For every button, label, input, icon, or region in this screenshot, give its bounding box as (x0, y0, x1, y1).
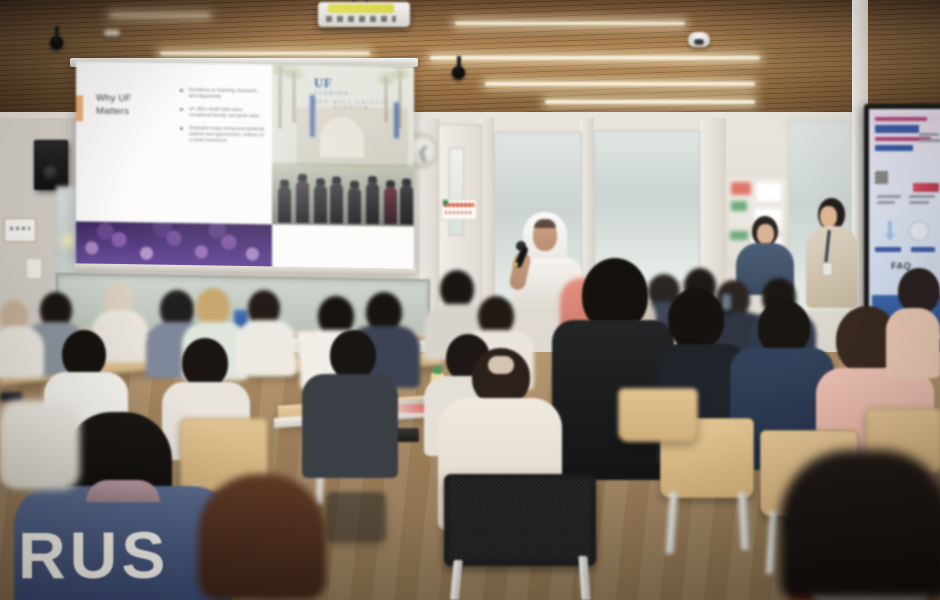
graduate-figure (400, 185, 413, 224)
signage-headline (875, 117, 927, 121)
audience-head-foreground (198, 474, 326, 600)
shirt-text: RUS (18, 520, 188, 590)
signage-note (877, 195, 901, 198)
qr-code-icon (875, 171, 888, 184)
slide-bullet-list: Excellence in Teaching, Research, and Op… (180, 87, 266, 151)
signage-subheadline (875, 145, 913, 151)
slide-accent-bar (76, 95, 83, 121)
audience-head-foreground (780, 450, 940, 600)
stadium-caption: BEN HILL GRIFFIN STADIUM (300, 99, 404, 111)
signage-note (919, 133, 939, 136)
faq-label: FAQ (891, 261, 911, 271)
stadium-arch (320, 117, 364, 158)
microphone-head (516, 241, 526, 251)
slide-photo-stadium: UF FLORIDA BEN HILL GRIFFIN STADIUM (272, 64, 414, 226)
phone-screen (722, 294, 731, 310)
spotlight-arm (457, 56, 461, 69)
shirt-collar (86, 480, 160, 502)
slide-photo-commencement: Graduation ceremony crowd in purple rega… (76, 221, 272, 268)
staff-face (820, 206, 837, 227)
framed-notice (4, 218, 36, 242)
graduate-figure (296, 181, 309, 223)
audience-torso (886, 308, 940, 378)
signage-circle-graphic (909, 221, 929, 241)
graduate-figure (384, 187, 397, 224)
graduate-figure (278, 187, 291, 223)
signage-headline (875, 125, 919, 133)
spotlight-arm (55, 26, 59, 39)
ceiling-led-strip (110, 14, 210, 17)
ring-jewelry (513, 262, 518, 267)
hair-clip (488, 356, 514, 374)
wall-column (700, 118, 726, 288)
chair[interactable] (618, 388, 698, 442)
banner (394, 102, 399, 138)
slide-bullet: Graduates enjoy strong post-graduate sal… (180, 125, 266, 144)
exit-marker-icon (443, 200, 448, 205)
slide-bullet: UF offers small class sizes, exceptional… (180, 106, 266, 119)
ceiling-led-strip (545, 100, 755, 104)
poster (731, 182, 751, 195)
uf-initials: UF (314, 75, 332, 90)
audience-hair (440, 270, 474, 308)
audience-hair (330, 330, 376, 380)
projector-ports (326, 16, 396, 22)
projector-vent (328, 4, 394, 13)
presentation-slide: Why UF Matters Excellence in Teaching, R… (76, 61, 414, 270)
uf-brand-name: FLORIDA (314, 91, 350, 97)
corridor-light (64, 236, 73, 245)
slide-bullet: Excellence in Teaching, Research, and Op… (180, 87, 266, 100)
signage-note (911, 247, 935, 252)
audience-hair (196, 288, 230, 326)
id-badge (822, 262, 833, 276)
ceiling-downlight (104, 30, 120, 36)
audience-shoulder-foreground (0, 400, 80, 490)
graduate-figure (366, 183, 379, 224)
graduate-figure (314, 185, 327, 223)
light-switch[interactable] (26, 258, 42, 279)
signage-note (909, 195, 935, 198)
ceiling-projector (318, 2, 410, 27)
ceiling-led-strip (430, 56, 760, 60)
audience-hair (62, 330, 106, 378)
signage-note (909, 201, 929, 204)
slide-title: Why UF Matters (96, 92, 166, 119)
palm-tree (292, 71, 296, 123)
dome-camera-icon (688, 32, 710, 47)
down-arrow-icon (885, 221, 895, 241)
presenter-hairline (534, 219, 556, 228)
poster (755, 181, 783, 203)
poster (730, 231, 748, 240)
chair-mesh[interactable] (444, 474, 596, 566)
commencement-crowd (76, 221, 272, 268)
graduates-photo-band (272, 162, 414, 226)
ceiling-led-strip (160, 52, 370, 55)
signage-badge (913, 183, 939, 192)
graduate-figure (348, 188, 361, 224)
graduate-figure (330, 183, 343, 223)
staff-face (757, 224, 774, 244)
audience-torso (302, 374, 398, 478)
ceiling-led-strip (455, 22, 685, 25)
chair-mesh-panel (450, 479, 590, 559)
audience-hair (182, 338, 228, 388)
wall-speaker (34, 140, 68, 190)
signage-note (875, 247, 901, 252)
chair-mesh[interactable] (326, 492, 386, 542)
palm-tree (384, 76, 388, 122)
bottle-cap (433, 366, 442, 374)
uf-brand-mark: UF FLORIDA (314, 75, 350, 97)
poster (731, 201, 747, 211)
signage-note (919, 139, 940, 142)
lecture-hall-photo: ceiling projector dome security camera w… (0, 0, 940, 600)
signage-note (877, 201, 895, 204)
banner (310, 95, 315, 137)
audience-torso (236, 320, 296, 376)
projection-screen: Why UF Matters Excellence in Teaching, R… (76, 61, 414, 270)
ceiling-led-strip (485, 82, 755, 86)
door-window (449, 148, 464, 236)
audience-torso (0, 326, 44, 378)
